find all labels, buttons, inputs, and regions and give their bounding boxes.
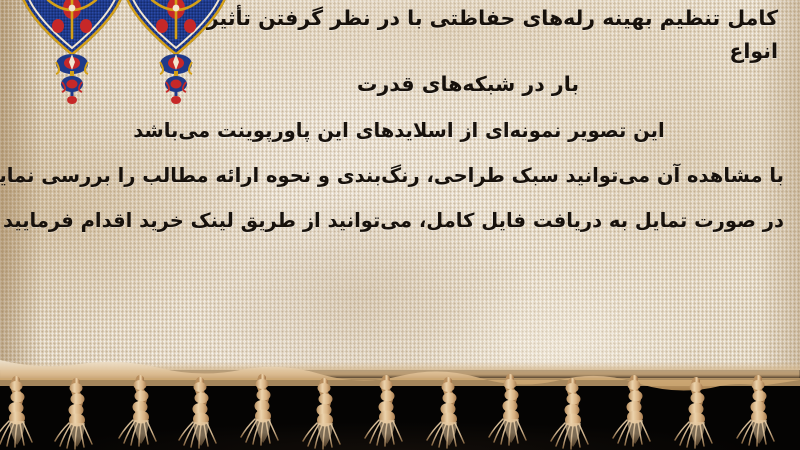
slide-title-line-2: بار در شبکه‌های قدرت: [158, 68, 778, 101]
slide-body-line-1: این تصویر نمونه‌ای از اسلایدهای این پاور…: [14, 108, 784, 153]
carpet-medallion-left: [14, 0, 130, 114]
slide-canvas: کامل تنظیم بهینه رله‌های حفاظتی با در نظ…: [0, 0, 800, 450]
carpet-fringe: [0, 358, 800, 450]
slide-body-line-3: در صورت تمایل به دریافت فایل کامل، می‌تو…: [14, 198, 784, 243]
slide-title: کامل تنظیم بهینه رله‌های حفاظتی با در نظ…: [158, 2, 778, 101]
slide-title-line-1: کامل تنظیم بهینه رله‌های حفاظتی با در نظ…: [158, 2, 778, 68]
slide-body-text: این تصویر نمونه‌ای از اسلایدهای این پاور…: [14, 108, 784, 243]
medallion-pendant-left: [50, 52, 94, 114]
slide-body-line-2: با مشاهده آن می‌توانید سبک طراحی، رنگ‌بن…: [14, 153, 784, 198]
